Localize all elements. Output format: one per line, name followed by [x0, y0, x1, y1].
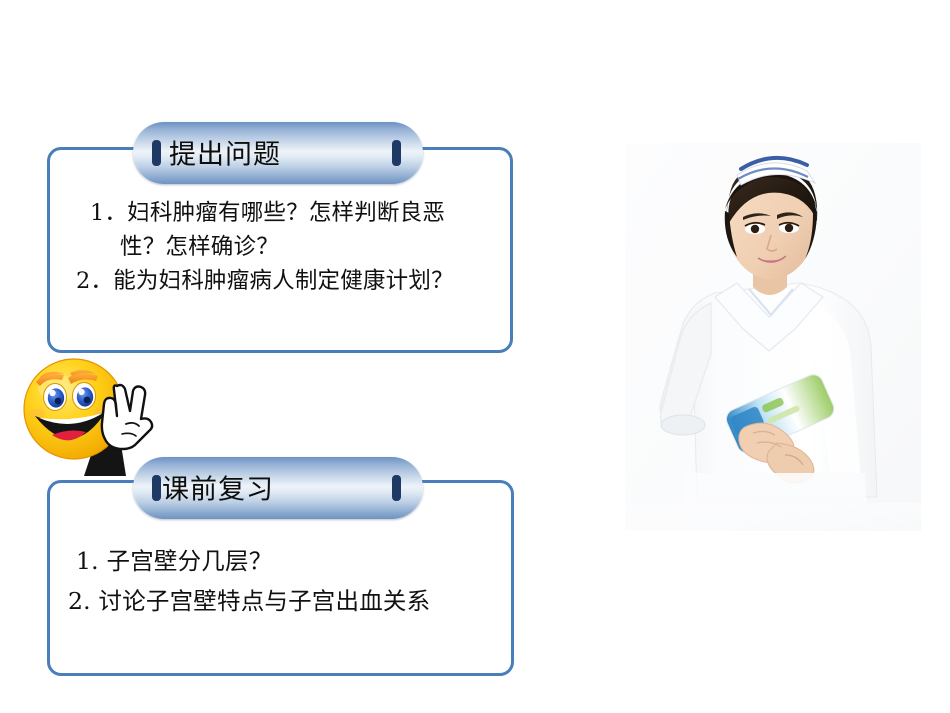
questions-body: 1．妇科肿瘤有哪些？怎样判断良恶 性？怎样确诊？ 2．能为妇科肿瘤病人制定健康计…: [50, 196, 510, 299]
questions-line-3: 2．能为妇科肿瘤病人制定健康计划？: [68, 264, 496, 298]
questions-title-pill: 提出问题: [133, 122, 423, 184]
slide-canvas: 1．妇科肿瘤有哪些？怎样判断良恶 性？怎样确诊？ 2．能为妇科肿瘤病人制定健康计…: [0, 0, 950, 713]
review-line-2: 2. 讨论子宫壁特点与子宫出血关系: [68, 581, 497, 621]
pill-marker-right-icon: [392, 475, 401, 501]
review-line-1: 1. 子宫壁分几层？: [68, 541, 497, 581]
pill-marker-right-icon: [392, 140, 401, 166]
questions-line-2: 性？怎样确诊？: [68, 230, 496, 264]
questions-title: 提出问题: [169, 133, 281, 172]
smiley-victory-icon: [22, 352, 162, 478]
review-title: 课前复习: [162, 468, 274, 507]
pill-marker-left-icon: [152, 140, 161, 166]
review-title-pill: 课前复习: [133, 457, 423, 519]
pill-marker-left-icon: [152, 475, 161, 501]
nurse-photo: [625, 143, 921, 552]
questions-line-1: 1．妇科肿瘤有哪些？怎样判断良恶: [68, 196, 496, 230]
review-body: 1. 子宫壁分几层？ 2. 讨论子宫壁特点与子宫出血关系: [50, 541, 511, 622]
